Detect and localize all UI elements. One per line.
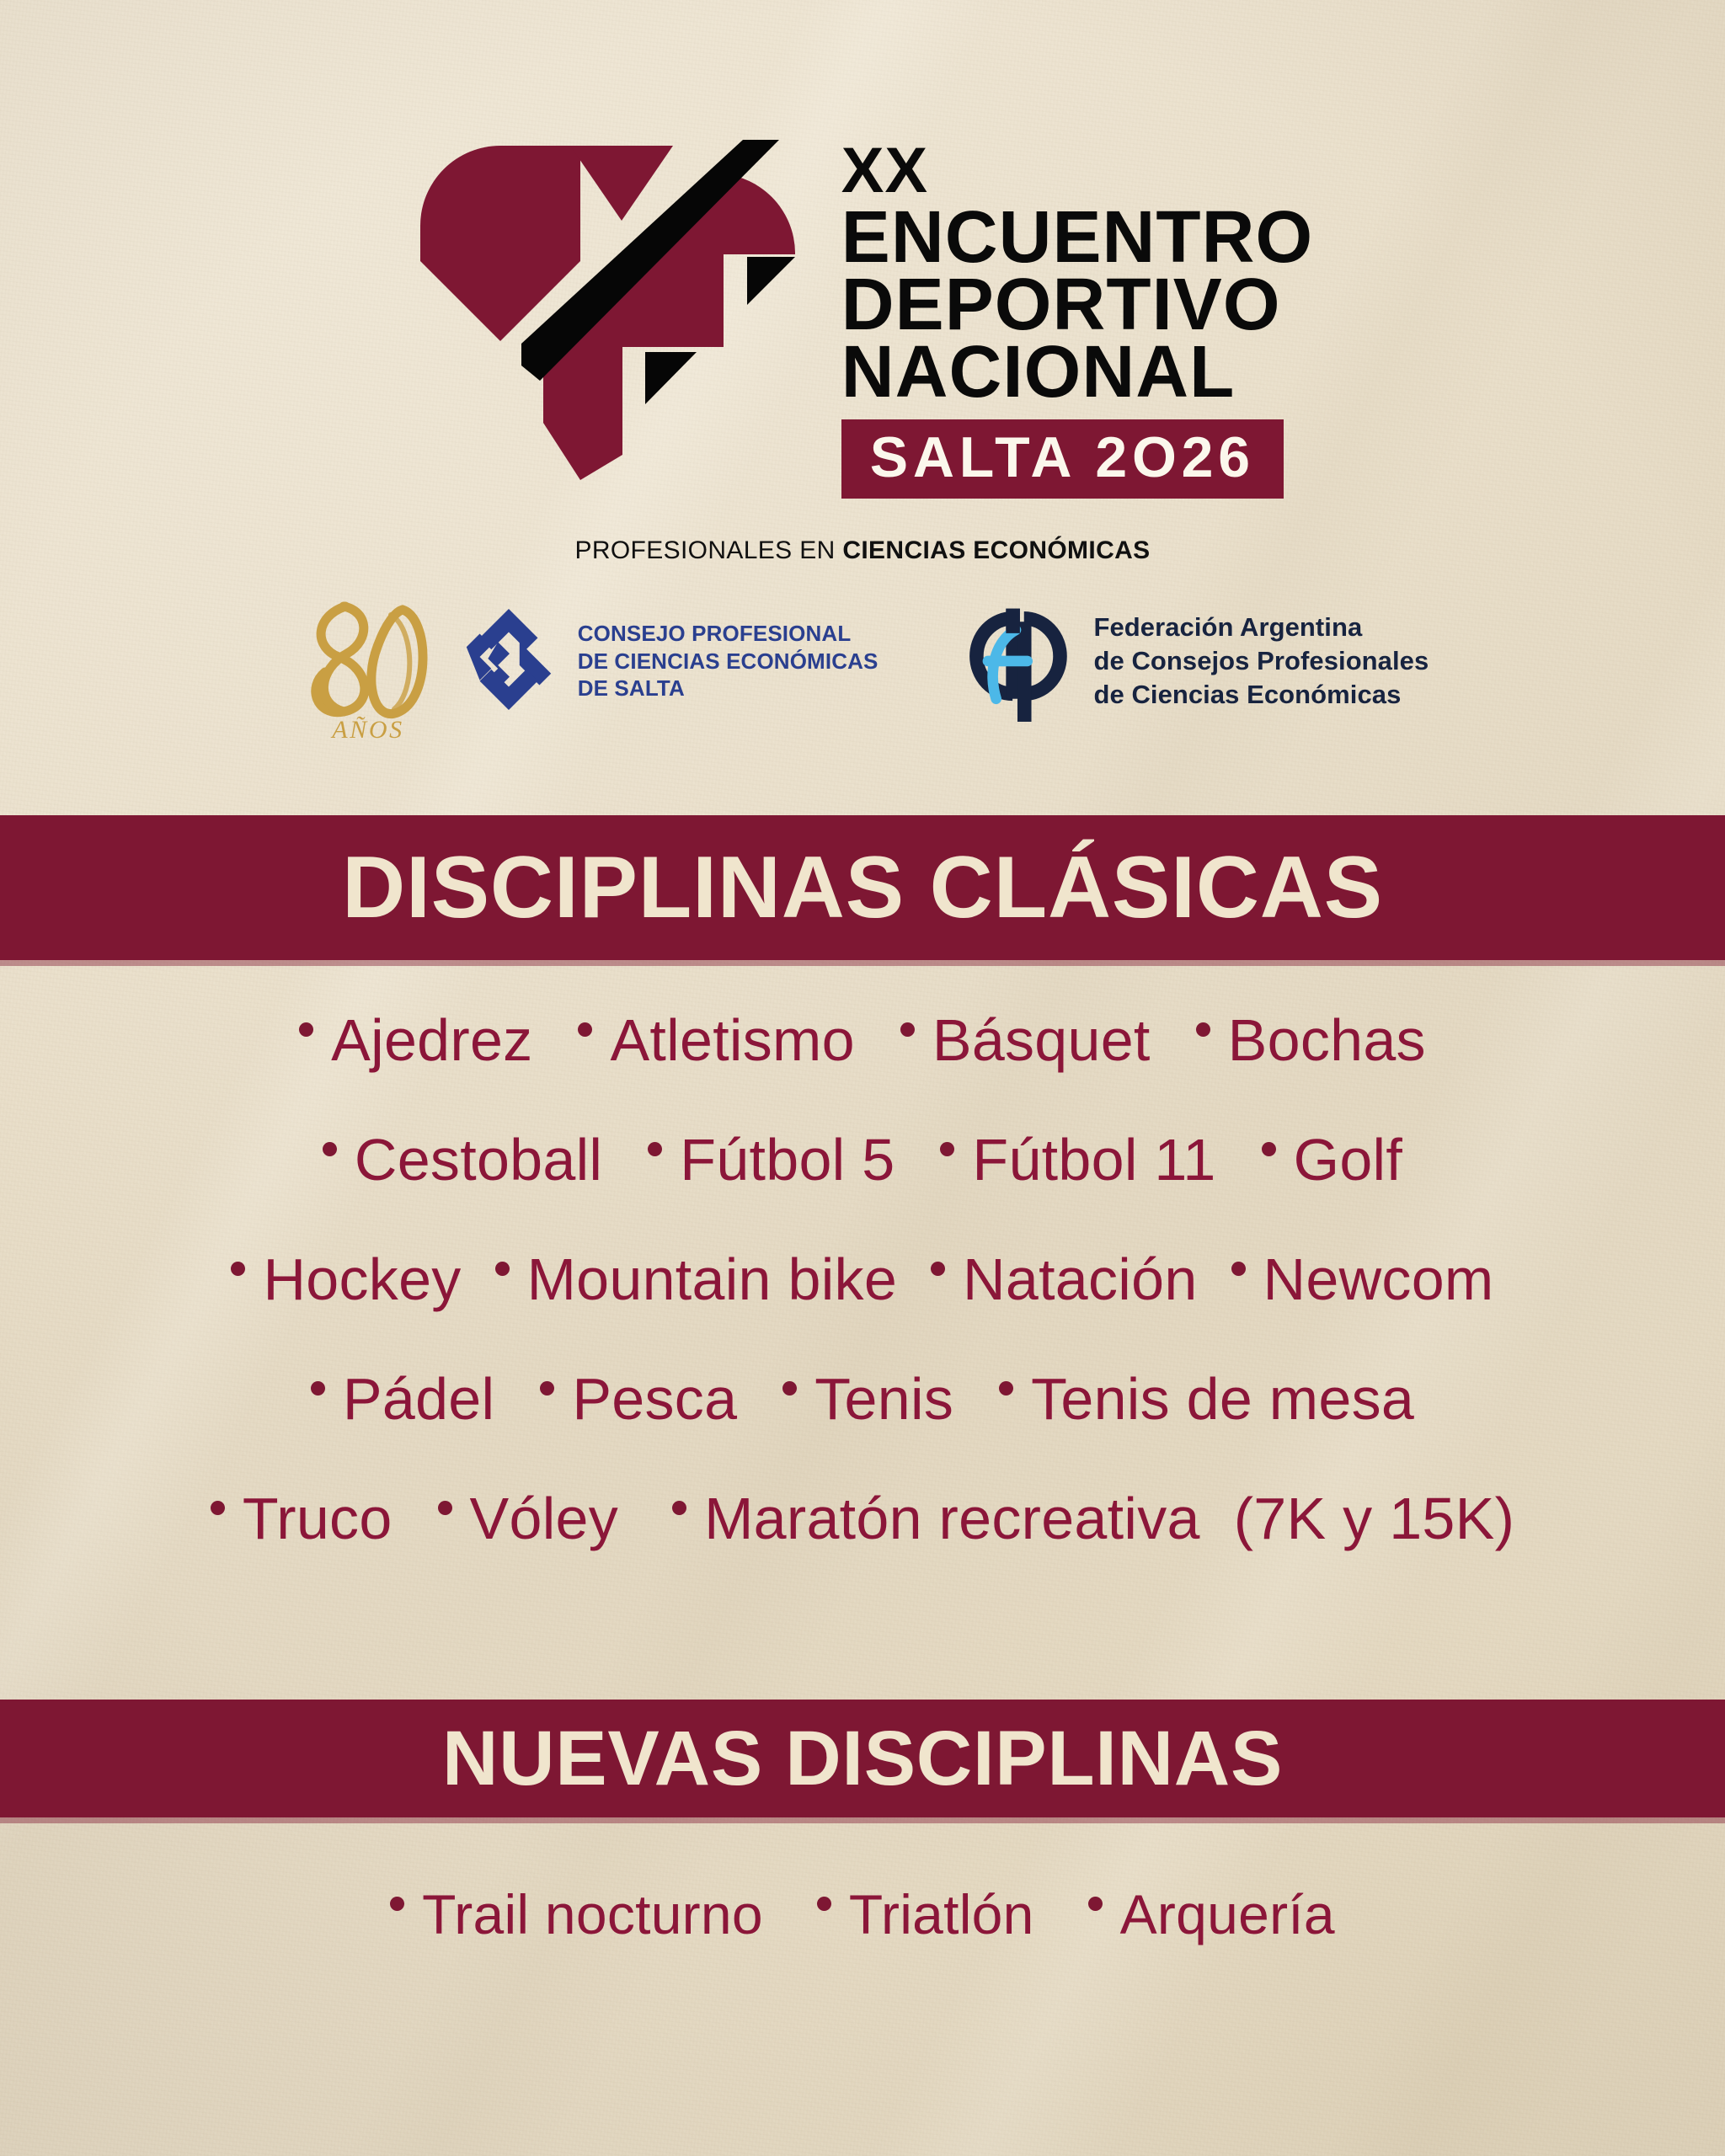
bullet-dot-icon	[999, 1381, 1013, 1396]
bullet-dot-icon	[931, 1262, 945, 1276]
title-line-edition: XX	[841, 138, 1313, 204]
nuevas-disciplinas-list: Trail nocturno Triatlón Arquería	[0, 1886, 1725, 1996]
discipline-label: Básquet	[932, 1011, 1151, 1070]
partner-facpce: Federación Argentina de Consejos Profesi…	[955, 594, 1429, 729]
cpce-name-line-1: CONSEJO PROFESIONAL	[578, 620, 879, 648]
partner-cpce-salta: AÑOS CONSEJO PROFESIONAL DE	[296, 581, 879, 741]
cpce-salta-name: CONSEJO PROFESIONAL DE CIENCIAS ECONÓMIC…	[578, 620, 879, 702]
discipline-label: Tenis de mesa	[1031, 1369, 1414, 1428]
80-anos-anniversary-mark: AÑOS	[296, 581, 440, 741]
cpce-name-line-3: DE SALTA	[578, 675, 879, 702]
discipline-item: Truco	[211, 1489, 393, 1548]
discipline-item: Trail nocturno	[390, 1886, 763, 1942]
bullet-dot-icon	[900, 1022, 915, 1037]
location-year-banner: SALTA 2O26	[841, 419, 1284, 499]
discipline-item: Arquería	[1088, 1886, 1335, 1942]
discipline-item: Bochas	[1196, 1011, 1426, 1070]
discipline-distance-note: (7K y 15K)	[1234, 1489, 1515, 1548]
title-line-nacional: NACIONAL	[841, 339, 1313, 406]
discipline-label: Cestoball	[355, 1130, 602, 1189]
discipline-label: Trail nocturno	[422, 1886, 763, 1942]
bullet-dot-icon	[1262, 1142, 1276, 1156]
banner-clasicas-title: DISCIPLINAS CLÁSICAS	[342, 844, 1383, 931]
facpce-name-line-3: de Ciencias Económicas	[1093, 678, 1429, 712]
title-line-encuentro: ENCUENTRO	[841, 204, 1313, 271]
cpce-name-line-2: DE CIENCIAS ECONÓMICAS	[578, 648, 879, 675]
discipline-item: Natación	[931, 1250, 1198, 1309]
discipline-label: Pádel	[343, 1369, 494, 1428]
bullet-dot-icon	[817, 1897, 831, 1911]
discipline-item: Tenis	[782, 1369, 953, 1428]
discipline-item: Básquet	[900, 1011, 1151, 1070]
partner-logos-row: AÑOS CONSEJO PROFESIONAL DE	[0, 581, 1725, 741]
subtitle-profesionales: PROFESIONALES EN CIENCIAS ECONÓMICAS	[0, 536, 1725, 565]
bullet-dot-icon	[578, 1022, 592, 1037]
bullet-dot-icon	[1196, 1022, 1210, 1037]
bullet-dot-icon	[495, 1262, 510, 1276]
bullet-dot-icon	[311, 1381, 325, 1396]
discipline-label: Maratón recreativa	[704, 1489, 1200, 1548]
discipline-label: Atletismo	[610, 1011, 854, 1070]
bullet-dot-icon	[940, 1142, 954, 1156]
discipline-item: Mountain bike	[495, 1250, 897, 1309]
bullet-dot-icon	[390, 1897, 404, 1911]
discipline-item: Tenis de mesa	[999, 1369, 1414, 1428]
banner-nuevas-disciplinas: NUEVAS DISCIPLINAS	[0, 1700, 1725, 1817]
discipline-label: Vóley	[470, 1489, 619, 1548]
banner-nuevas-title: NUEVAS DISCIPLINAS	[442, 1720, 1283, 1797]
banner-disciplinas-clasicas: DISCIPLINAS CLÁSICAS	[0, 815, 1725, 960]
discipline-item: Fútbol 11	[940, 1130, 1215, 1189]
discipline-item: Maratón recreativa(7K y 15K)	[672, 1489, 1514, 1548]
encuentro-heart-arrow-logo	[412, 126, 808, 480]
bullet-dot-icon	[672, 1501, 686, 1515]
discipline-label: Mountain bike	[527, 1250, 897, 1309]
discipline-label: Tenis	[814, 1369, 953, 1428]
discipline-label: Truco	[243, 1489, 393, 1548]
bullet-dot-icon	[782, 1381, 797, 1396]
subtitle-strong: CIENCIAS ECONÓMICAS	[842, 536, 1150, 564]
subtitle-prefix: PROFESIONALES EN	[574, 536, 842, 564]
discipline-item: Pádel	[311, 1369, 494, 1428]
facpce-name-line-1: Federación Argentina	[1093, 611, 1429, 644]
discipline-label: Hockey	[263, 1250, 461, 1309]
discipline-item: Golf	[1262, 1130, 1403, 1189]
discipline-label: Fútbol 5	[680, 1130, 895, 1189]
bullet-dot-icon	[438, 1501, 452, 1515]
bullet-dot-icon	[648, 1142, 662, 1156]
discipline-item: Hockey	[231, 1250, 461, 1309]
facpce-name: Federación Argentina de Consejos Profesi…	[1093, 611, 1429, 712]
discipline-item: Fútbol 5	[648, 1130, 895, 1189]
bullet-dot-icon	[323, 1142, 337, 1156]
disciplinas-clasicas-list: Ajedrez Atletismo Básquet Bochas Cestoba…	[0, 1011, 1725, 1609]
discipline-row: Pádel Pesca Tenis Tenis de mesa	[0, 1369, 1725, 1489]
discipline-item: Newcom	[1231, 1250, 1494, 1309]
discipline-item: Triatlón	[817, 1886, 1034, 1942]
discipline-row: Hockey Mountain bike Natación Newcom	[0, 1250, 1725, 1369]
anniversary-anos-label: AÑOS	[330, 716, 403, 741]
discipline-item: Vóley	[438, 1489, 619, 1548]
discipline-label: Golf	[1294, 1130, 1403, 1189]
bullet-dot-icon	[231, 1262, 245, 1276]
cpce-salta-logo	[455, 606, 563, 718]
discipline-label: Pesca	[572, 1369, 737, 1428]
discipline-row: Truco Vóley Maratón recreativa(7K y 15K)	[0, 1489, 1725, 1609]
discipline-row: Cestoball Fútbol 5 Fútbol 11 Golf	[0, 1130, 1725, 1250]
discipline-label: Newcom	[1263, 1250, 1494, 1309]
bullet-dot-icon	[1088, 1897, 1103, 1911]
hero-header: XX ENCUENTRO DEPORTIVO NACIONAL SALTA 2O…	[0, 126, 1725, 499]
location-year-label: SALTA 2O26	[870, 425, 1255, 489]
discipline-label: Triatlón	[849, 1886, 1034, 1942]
facpce-name-line-2: de Consejos Profesionales	[1093, 644, 1429, 678]
facpce-logo	[955, 594, 1078, 729]
bullet-dot-icon	[299, 1022, 313, 1037]
discipline-label: Ajedrez	[331, 1011, 532, 1070]
discipline-label: Fútbol 11	[972, 1130, 1215, 1189]
discipline-item: Pesca	[540, 1369, 737, 1428]
discipline-row: Ajedrez Atletismo Básquet Bochas	[0, 1011, 1725, 1130]
discipline-row: Trail nocturno Triatlón Arquería	[0, 1886, 1725, 1996]
discipline-item: Ajedrez	[299, 1011, 532, 1070]
bullet-dot-icon	[540, 1381, 554, 1396]
discipline-label: Arquería	[1120, 1886, 1335, 1942]
title-line-deportivo: DEPORTIVO	[841, 271, 1313, 339]
discipline-label: Bochas	[1228, 1011, 1426, 1070]
discipline-label: Natación	[963, 1250, 1198, 1309]
event-title-block: XX ENCUENTRO DEPORTIVO NACIONAL SALTA 2O…	[841, 126, 1313, 499]
bullet-dot-icon	[211, 1501, 225, 1515]
discipline-item: Cestoball	[323, 1130, 602, 1189]
discipline-item: Atletismo	[578, 1011, 854, 1070]
bullet-dot-icon	[1231, 1262, 1246, 1276]
